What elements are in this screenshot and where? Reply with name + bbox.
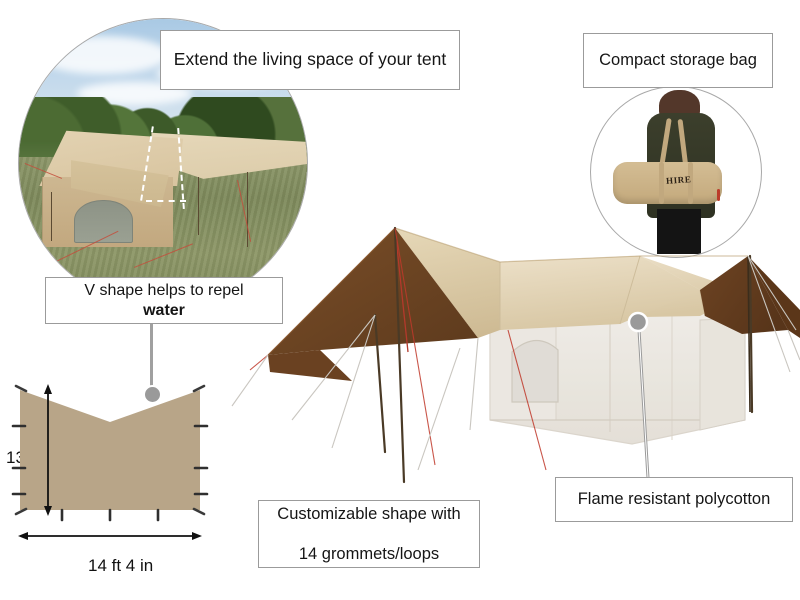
ghost-tent (490, 300, 745, 444)
callout-customizable-shape: Customizable shape with 14 grommets/loop… (258, 500, 480, 568)
tarp-dimension-diagram (0, 360, 260, 600)
bag-strap (659, 162, 664, 205)
callout-flame-text: Flame resistant polycotton (578, 489, 771, 509)
callout-custom-line1: Customizable shape with (277, 504, 460, 524)
callout-custom-line2: 14 grommets/loops (277, 544, 460, 564)
width-dimension-arrow (18, 532, 202, 540)
callout-v-shape-repel-water: V shape helps to repel water (45, 277, 283, 324)
tarp-shape (20, 390, 200, 510)
leader-line-vshape (150, 324, 153, 386)
callout-compact-text: Compact storage bag (599, 50, 757, 70)
callout-extend-text: Extend the living space of your tent (174, 49, 446, 70)
infographic-canvas: HIRE (0, 0, 800, 600)
callout-vshape-text-normal: V shape helps to repel (84, 281, 243, 301)
callout-flame-resistant: Flame resistant polycotton (555, 477, 793, 522)
leader-dot-vshape (143, 385, 162, 404)
cloud-shape (36, 36, 168, 73)
bag-zipper-pull (717, 189, 720, 201)
dashed-highlight-line (146, 200, 186, 202)
guy-lines-pale (232, 256, 800, 470)
tarp-pole (198, 177, 200, 235)
callout-compact-storage-bag: Compact storage bag (583, 33, 773, 88)
tarp-pole (51, 192, 53, 241)
tarp-right-panel (700, 256, 800, 412)
callout-custom-text: Customizable shape with 14 grommets/loop… (277, 504, 460, 564)
grommet-bottom-ticks (62, 510, 158, 520)
person-legs (657, 209, 701, 253)
callout-extend-living-space: Extend the living space of your tent (160, 30, 460, 90)
storage-bag-photo: HIRE (590, 86, 762, 258)
callout-vshape-text: V shape helps to repel water (84, 281, 243, 320)
callout-vshape-text-strong: water (84, 301, 243, 321)
tarp-poles (375, 228, 752, 482)
